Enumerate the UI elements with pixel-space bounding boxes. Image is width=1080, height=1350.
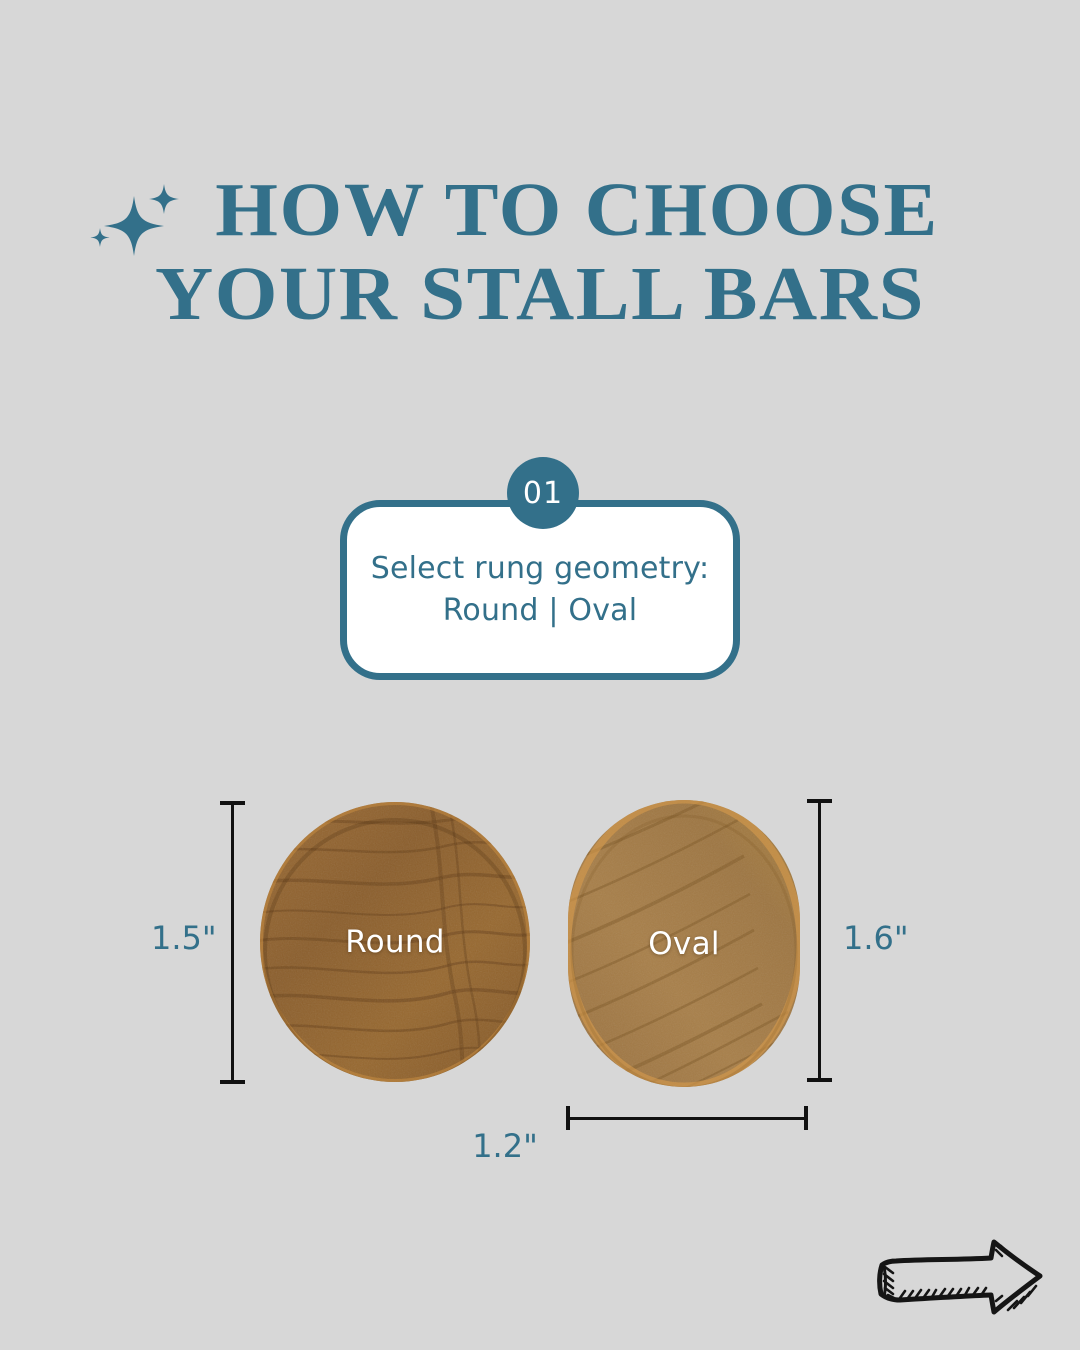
oval-wood-sample: Oval (568, 800, 800, 1087)
dimension-label-round-height: 1.5" (151, 919, 217, 957)
step-number-badge: 01 (507, 457, 579, 529)
dimension-cap-bottom (807, 1078, 832, 1082)
dimension-line-vertical-right (818, 799, 821, 1082)
dimension-cap-top (220, 801, 245, 805)
round-label: Round (260, 924, 530, 960)
dimension-line-horizontal (566, 1117, 808, 1120)
title-line-2: YOUR STALL BARS (0, 252, 1080, 336)
dimension-line-vertical-left (231, 801, 234, 1084)
infographic-canvas: HOW TO CHOOSE YOUR STALL BARS Select run… (0, 0, 1080, 1350)
dimension-cap-top (807, 799, 832, 803)
dimension-label-oval-height: 1.6" (843, 919, 909, 957)
hand-drawn-arrow-right-icon (872, 1238, 1052, 1338)
page-title: HOW TO CHOOSE YOUR STALL BARS (0, 168, 1080, 336)
oval-label: Oval (568, 926, 800, 962)
dimension-cap-bottom (220, 1080, 245, 1084)
title-line-1: HOW TO CHOOSE (0, 168, 1080, 252)
step-text-line-1: Select rung geometry: (371, 548, 710, 590)
round-wood-sample: Round (260, 802, 530, 1082)
dimension-label-oval-width: 1.2" (0, 1127, 1080, 1165)
step-text-line-2: Round | Oval (443, 590, 638, 632)
